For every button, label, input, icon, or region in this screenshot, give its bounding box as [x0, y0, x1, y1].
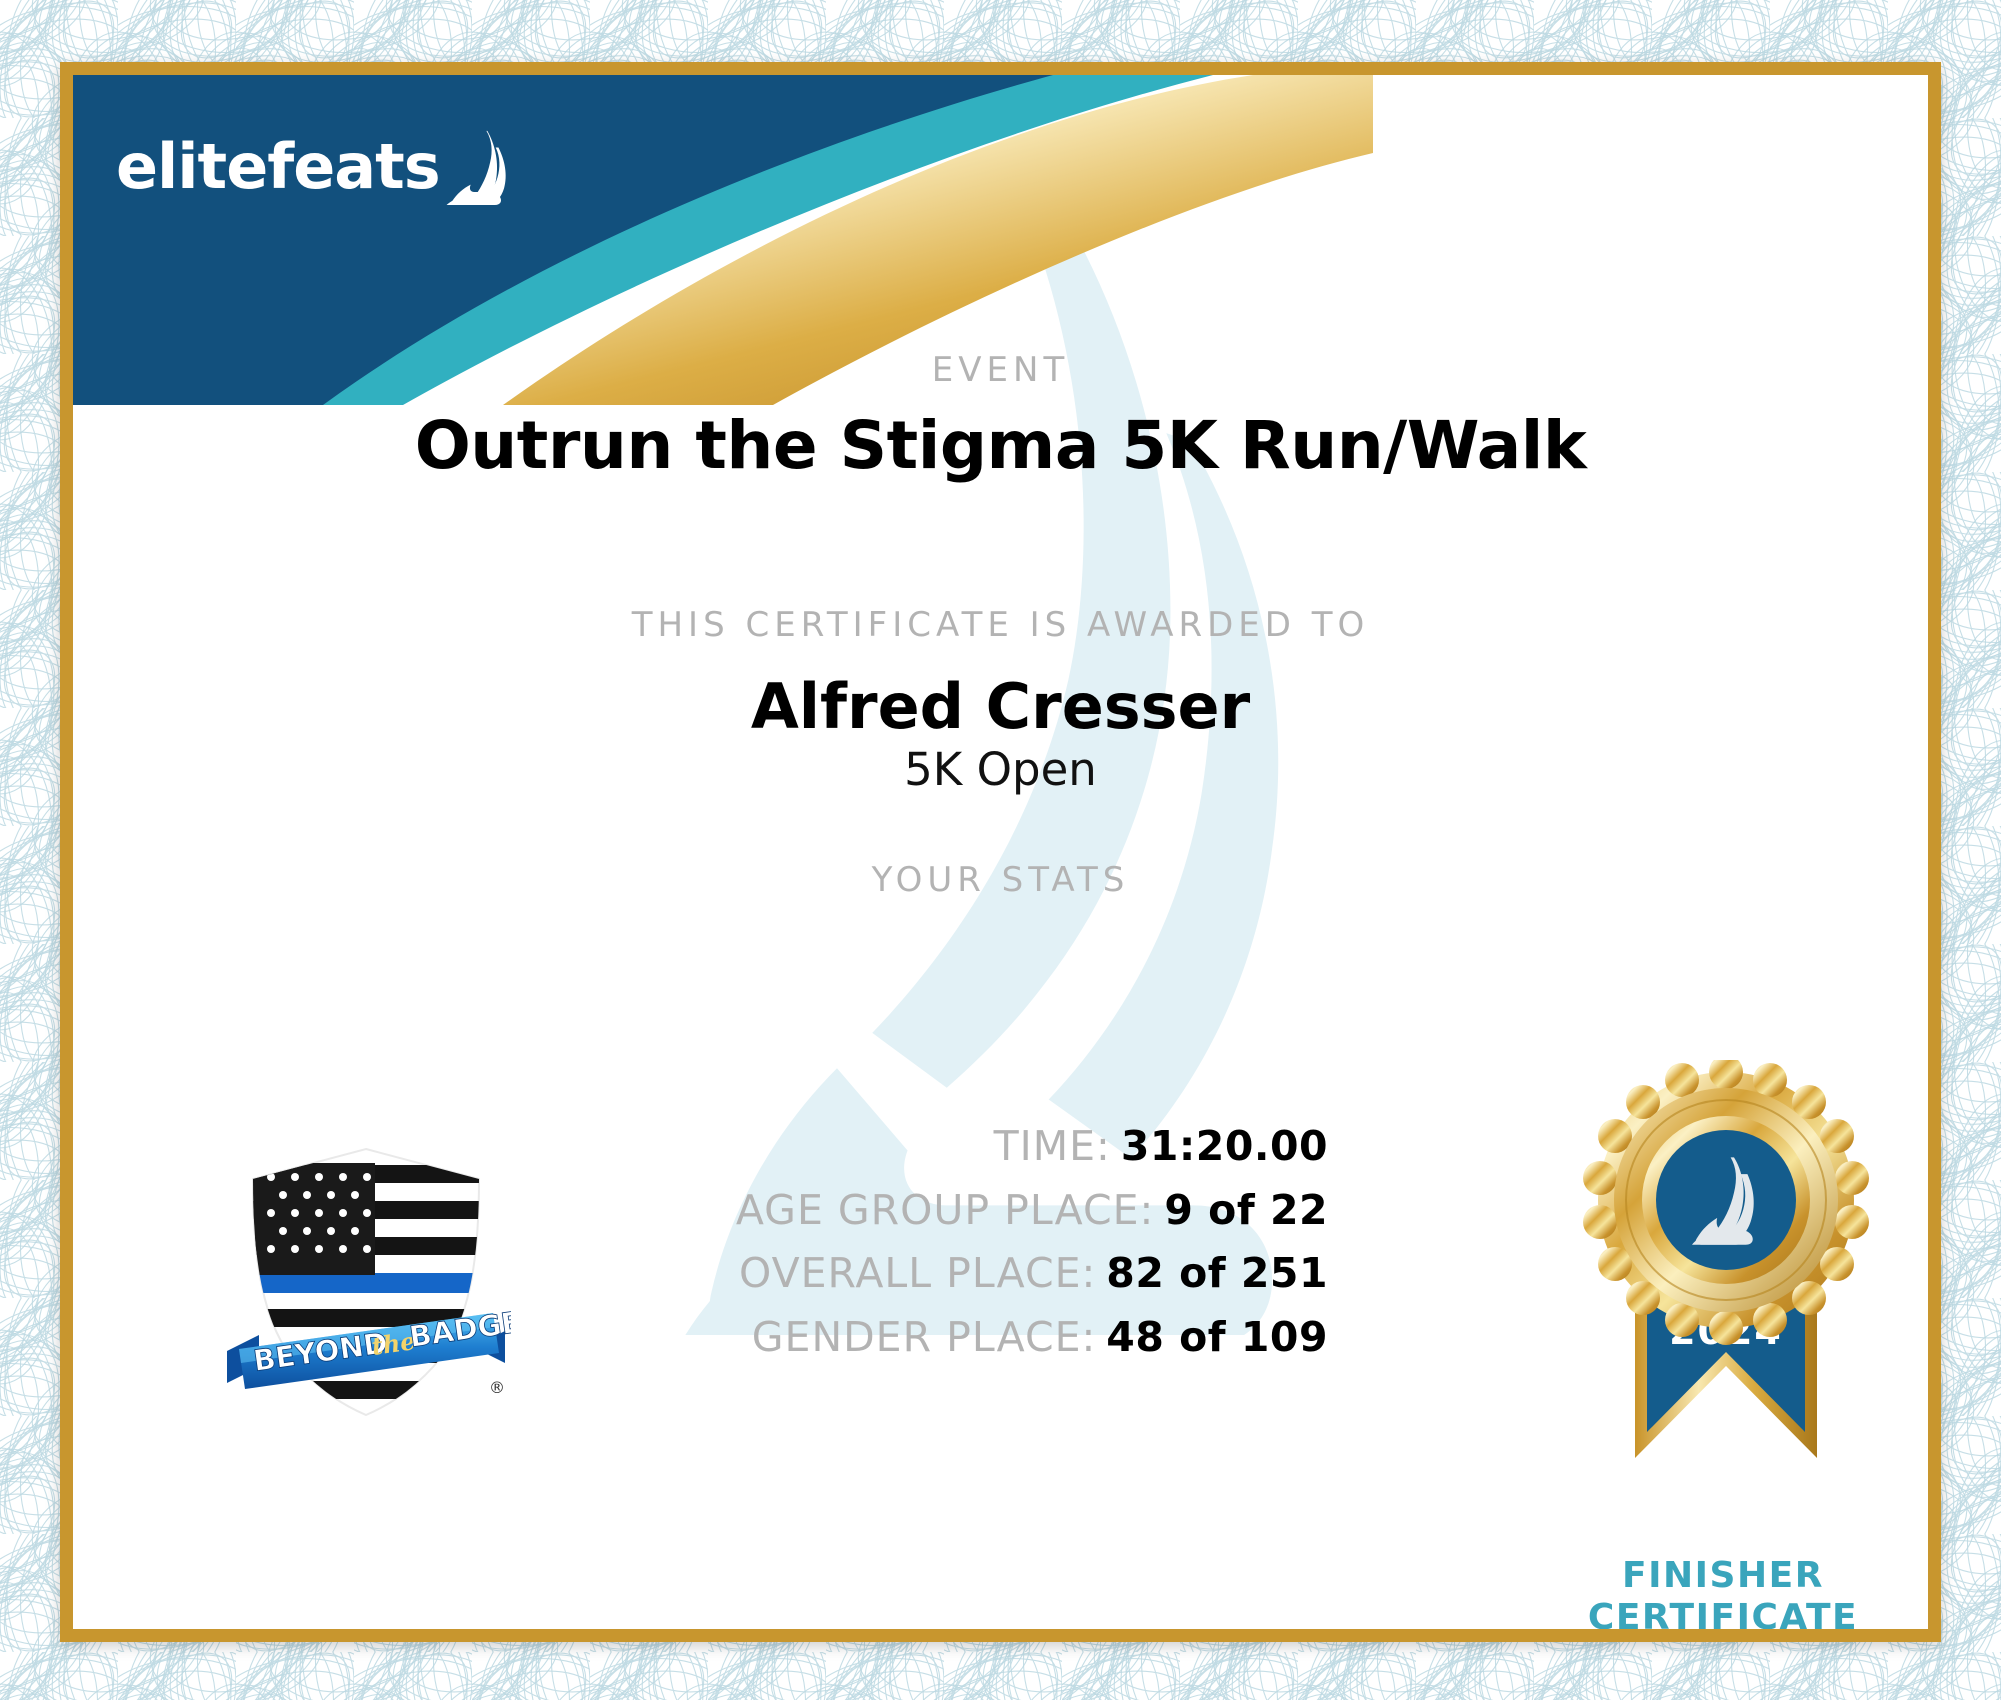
recipient-name: Alfred Cresser	[73, 670, 1928, 743]
stat-value: 82 of 251	[1106, 1249, 1328, 1297]
division-name: 5K Open	[73, 743, 1928, 796]
finisher-caption-line1: FINISHER	[1523, 1555, 1923, 1597]
stats-eyebrow-row: YOUR STATS	[73, 860, 1928, 900]
certificate-body: elitefeats EVENT Outrun the Stigma 5K	[73, 75, 1928, 1629]
registered-trademark-icon: ®	[489, 1378, 505, 1397]
event-label: EVENT	[73, 350, 1928, 390]
finisher-medal-badge: 2024	[1571, 1060, 1881, 1460]
event-title: Outrun the Stigma 5K Run/Walk	[73, 407, 1928, 484]
awarded-eyebrow-row: THIS CERTIFICATE IS AWARDED TO	[73, 605, 1928, 645]
event-eyebrow-row: EVENT	[73, 350, 1928, 390]
certificate-content: EVENT Outrun the Stigma 5K Run/Walk THIS…	[73, 75, 1928, 1629]
stat-label: GENDER PLACE:	[752, 1313, 1097, 1361]
stat-value: 31:20.00	[1121, 1122, 1328, 1170]
finisher-caption-line2: CERTIFICATE	[1523, 1597, 1923, 1629]
awarded-to-label: THIS CERTIFICATE IS AWARDED TO	[73, 605, 1928, 645]
elitefeats-wordmark: elitefeats	[116, 136, 440, 198]
elitefeats-logo: elitefeats	[116, 129, 512, 205]
your-stats-label: YOUR STATS	[73, 860, 1928, 900]
recipient-row: Alfred Cresser	[73, 670, 1928, 743]
stat-label: TIME:	[994, 1122, 1111, 1170]
stat-label: AGE GROUP PLACE:	[736, 1186, 1155, 1234]
stat-value: 48 of 109	[1106, 1313, 1328, 1361]
stat-value: 9 of 22	[1164, 1186, 1328, 1234]
certificate-page: elitefeats EVENT Outrun the Stigma 5K	[0, 0, 2001, 1700]
division-row: 5K Open	[73, 743, 1928, 796]
beyond-the-badge-sponsor-logo: BEYOND the BADGE ®	[221, 1135, 511, 1425]
stat-label: OVERALL PLACE:	[739, 1249, 1096, 1297]
finisher-certificate-caption: FINISHER CERTIFICATE	[1523, 1555, 1923, 1629]
certificate-gold-border: elitefeats EVENT Outrun the Stigma 5K	[60, 62, 1941, 1642]
event-title-row: Outrun the Stigma 5K Run/Walk	[73, 407, 1928, 484]
winged-foot-icon	[446, 129, 512, 205]
